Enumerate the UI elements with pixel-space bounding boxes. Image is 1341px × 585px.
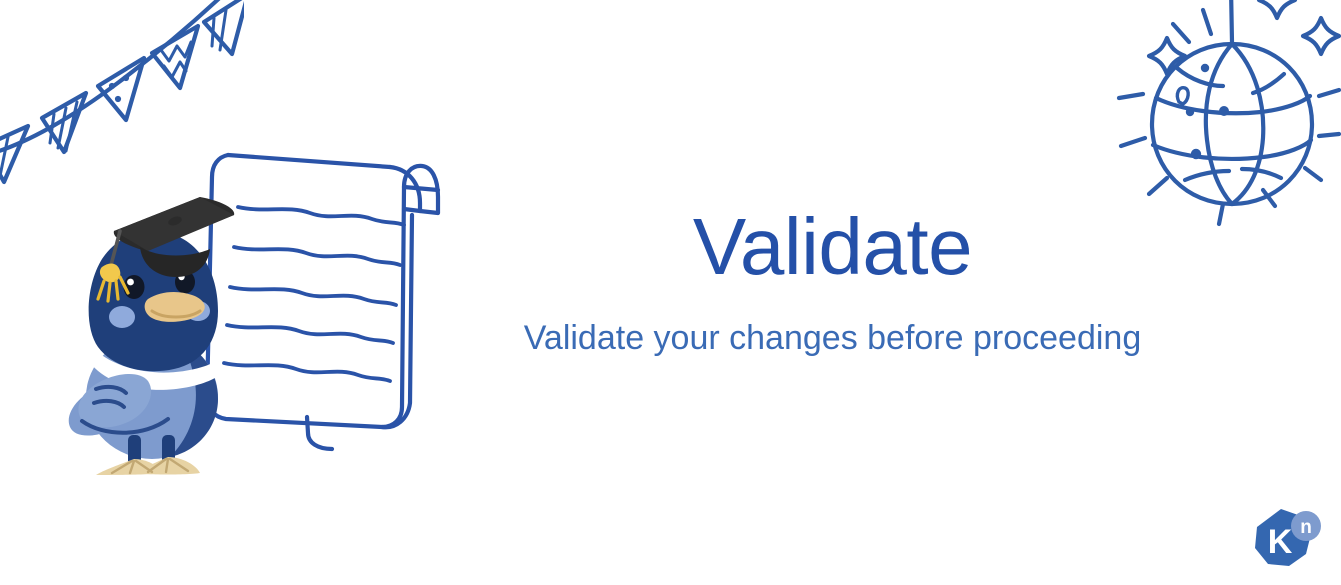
slide-canvas: Validate Validate your changes before pr… <box>0 0 1341 585</box>
graduate-bird-with-scroll <box>52 135 462 475</box>
disco-ball-icon <box>1111 0 1341 229</box>
killercoda-logo[interactable]: K n <box>1245 505 1323 577</box>
page-subtitle: Validate your changes before proceeding <box>470 318 1195 359</box>
logo-primary-letter: K <box>1268 523 1293 561</box>
text-block: Validate Validate your changes before pr… <box>470 205 1195 359</box>
page-title: Validate <box>470 205 1195 290</box>
logo-secondary-letter: n <box>1300 517 1312 538</box>
